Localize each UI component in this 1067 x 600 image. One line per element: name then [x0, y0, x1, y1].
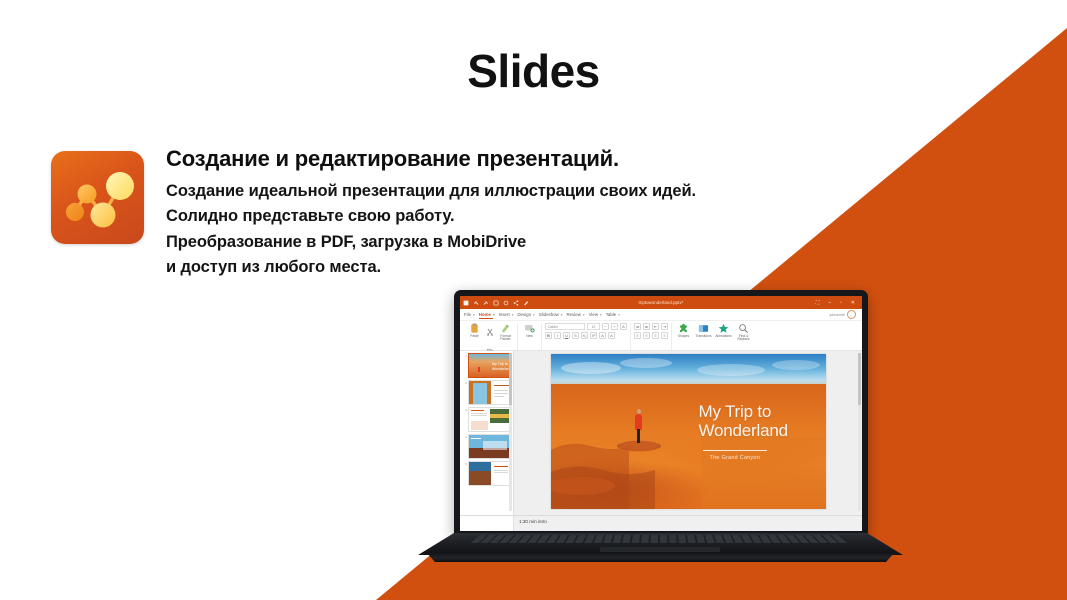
animations-star-icon — [718, 323, 729, 334]
thumbnail-number: 2 — [463, 380, 467, 405]
clipboard-icon — [469, 323, 480, 334]
menu-slideshow[interactable]: Slideshow▾ — [539, 312, 563, 317]
slide-title-text[interactable]: My Trip to Wonderland — [699, 402, 788, 440]
minimize-icon[interactable]: – — [828, 300, 831, 306]
notes-text[interactable]: 1:30 min intro — [514, 516, 547, 524]
person-head — [637, 409, 641, 414]
thumbnail-number: 1 — [463, 353, 467, 378]
feature-line-4: и доступ из любого места. — [166, 255, 786, 281]
title-underline — [703, 450, 767, 451]
thumbnail-preview: My Trip toWonderland — [468, 353, 510, 378]
align-justify-icon[interactable]: ≡ — [661, 332, 668, 339]
animations-label: Animations — [715, 335, 731, 338]
menu-review[interactable]: Review▾ — [566, 312, 584, 317]
clear-format-icon[interactable]: A — [620, 323, 627, 330]
menu-design[interactable]: Design▾ — [517, 312, 534, 317]
menu-file[interactable]: File▾ — [464, 312, 475, 317]
save-icon[interactable] — [463, 300, 469, 306]
thumbnail-preview — [468, 461, 510, 486]
transitions-label: Transitions — [695, 335, 711, 338]
app-titlebar: triptowonderland.pptx* ⛶ – ▫ ✕ — [460, 296, 862, 309]
font-increase-icon[interactable]: + — [611, 323, 618, 330]
shapes-button[interactable]: Shapes — [675, 323, 692, 338]
feature-line-2: Солидно представьте свою работу. — [166, 204, 786, 230]
thumbnail-preview — [468, 434, 510, 459]
menu-insert-label: Insert — [499, 312, 510, 317]
animations-button[interactable]: Animations — [715, 323, 732, 338]
avatar[interactable] — [847, 310, 856, 319]
new-slide-icon — [524, 323, 535, 334]
sync-icon[interactable] — [503, 300, 509, 306]
page-title: Slides — [0, 44, 1067, 98]
menu-table[interactable]: Table▾ — [606, 312, 620, 317]
transitions-icon — [698, 323, 709, 334]
bold-button[interactable]: B — [545, 332, 552, 339]
find-replace-button[interactable]: Find & Replace — [735, 323, 752, 342]
chevron-down-icon: ▾ — [561, 313, 563, 317]
underline-button[interactable]: U — [563, 332, 570, 339]
chevron-down-icon: ▾ — [473, 313, 475, 317]
menu-slideshow-label: Slideshow — [539, 312, 559, 317]
align-left-icon[interactable]: ≡ — [634, 332, 641, 339]
feature-headline: Создание и редактирование презентаций. — [166, 145, 786, 173]
menu-file-label: File — [464, 312, 471, 317]
find-replace-icon — [738, 323, 749, 334]
notes-pane[interactable]: 1:30 min intro — [460, 515, 862, 531]
slides-app-icon — [51, 151, 144, 244]
person-jacket — [635, 414, 642, 430]
format-painter-button[interactable]: Format Painter — [497, 323, 514, 342]
paste-label: Paste — [470, 335, 478, 338]
restore-icon[interactable]: ⛶ — [816, 300, 820, 306]
ribbon-group-slides: New — [518, 323, 542, 350]
feature-line-3: Преобразование в PDF, загрузка в MobiDri… — [166, 230, 786, 256]
quick-access-toolbar — [463, 300, 529, 306]
italic-button[interactable]: I — [554, 332, 561, 339]
laptop-keyboard — [471, 535, 849, 543]
font-color-button[interactable]: A — [608, 332, 615, 339]
scrollbar-thumb[interactable] — [509, 353, 512, 405]
notes-spacer — [460, 516, 514, 531]
font-row-top: Calibri 12 − + A — [545, 323, 627, 330]
thumbnail-scrollbar[interactable] — [509, 353, 512, 511]
redo-icon[interactable] — [483, 300, 489, 306]
menu-view[interactable]: View▾ — [589, 312, 602, 317]
thumbnail-slide-3[interactable]: 3 — [463, 407, 510, 432]
laptop-screen: triptowonderland.pptx* ⛶ – ▫ ✕ File▾ Hom… — [460, 296, 862, 531]
slide-thumbnail-panel[interactable]: 1 My Trip toWonderland 2 3 — [460, 351, 514, 515]
ribbon-group-paragraph: ≔ ≕ ⇤ ⇥ ≡ ≡ ≡ ≡ — [631, 323, 672, 350]
chevron-down-icon: ▾ — [493, 313, 495, 317]
align-right-icon[interactable]: ≡ — [652, 332, 659, 339]
user-account-area[interactable]: johnsmith — [830, 310, 858, 319]
thumbnail-slide-1[interactable]: 1 My Trip toWonderland — [463, 353, 510, 378]
format-painter-label: Format Painter — [497, 335, 514, 342]
chevron-down-icon: ▾ — [512, 313, 514, 317]
scrollbar-thumb[interactable] — [858, 353, 861, 405]
ribbon-group-clipboard: Paste — [463, 323, 518, 350]
shapes-label: Shapes — [678, 335, 689, 338]
laptop-mockup: triptowonderland.pptx* ⛶ – ▫ ✕ File▾ Hom… — [418, 290, 903, 580]
paragraph-row-top: ≔ ≕ ⇤ ⇥ — [634, 323, 668, 330]
ribbon-group-font: Calibri 12 − + A B I U S X — [542, 323, 631, 350]
window-controls: ⛶ – ▫ ✕ — [816, 300, 859, 306]
bullets-icon[interactable]: ≔ — [634, 323, 641, 330]
undo-icon[interactable] — [473, 300, 479, 306]
laptop-base-front — [424, 552, 897, 562]
slides-nodes-glyph — [51, 151, 144, 244]
thumbnail-number: 3 — [463, 407, 467, 432]
app-ribbon: Paste — [460, 321, 862, 351]
feature-text-block: Создание и редактирование презентаций. С… — [166, 145, 786, 281]
text-highlight-button[interactable]: A — [599, 332, 606, 339]
menu-design-label: Design — [517, 312, 531, 317]
indent-increase-icon[interactable]: ⇥ — [661, 323, 668, 330]
print-icon[interactable] — [493, 300, 499, 306]
chevron-down-icon: ▾ — [583, 313, 585, 317]
paragraph-controls: ≔ ≕ ⇤ ⇥ ≡ ≡ ≡ ≡ — [634, 323, 668, 339]
font-family-select[interactable]: Calibri — [545, 323, 585, 330]
thumbnail-preview — [468, 380, 510, 405]
thumbnail-number: 5 — [463, 461, 467, 486]
font-row-bottom: B I U S X₂ X² A A — [545, 332, 627, 339]
app-workspace: 1 My Trip toWonderland 2 3 — [460, 351, 862, 515]
user-name-label: johnsmith — [830, 313, 845, 317]
stage-scrollbar[interactable] — [858, 353, 861, 511]
chevron-down-icon: ▾ — [533, 313, 535, 317]
paste-button[interactable]: Paste — [466, 323, 483, 338]
svg-text:Wonderland: Wonderland — [492, 367, 510, 371]
thumbnail-slide-5[interactable]: 5 — [463, 461, 510, 486]
thumbnail-number: 4 — [463, 434, 467, 459]
maximize-icon[interactable]: ▫ — [840, 300, 842, 306]
indent-decrease-icon[interactable]: ⇤ — [652, 323, 659, 330]
menu-review-label: Review — [566, 312, 580, 317]
pen-icon[interactable] — [523, 300, 529, 306]
menu-view-label: View — [589, 312, 598, 317]
feature-line-1: Создание идеальной презентации для иллюс… — [166, 179, 786, 205]
thumbnail-preview — [468, 407, 510, 432]
transitions-button[interactable]: Transitions — [695, 323, 712, 338]
close-icon[interactable]: ✕ — [851, 300, 855, 306]
new-slide-button[interactable]: New — [521, 323, 538, 338]
superscript-button[interactable]: X² — [590, 332, 597, 339]
thumbnail-slide-4[interactable]: 4 — [463, 434, 510, 459]
ribbon-group-tools: Shapes Transitions Animati — [672, 323, 755, 350]
presentation-slide: Slides — [0, 0, 1067, 600]
menu-home[interactable]: Home▾ — [479, 312, 495, 317]
strikethrough-button[interactable]: S — [572, 332, 579, 339]
app-menubar: File▾ Home▾ Insert▾ Design▾ Slideshow▾ R… — [460, 309, 862, 321]
menu-table-label: Table — [606, 312, 617, 317]
menu-insert[interactable]: Insert▾ — [499, 312, 514, 317]
format-painter-icon — [500, 323, 511, 334]
numbering-icon[interactable]: ≕ — [643, 323, 650, 330]
slide-canvas[interactable]: My Trip to Wonderland The Grand Canyon — [551, 354, 826, 509]
shapes-icon — [678, 323, 689, 334]
slide-editing-stage[interactable]: My Trip to Wonderland The Grand Canyon — [514, 351, 862, 515]
menu-home-label: Home — [479, 312, 491, 317]
slide-subtitle-text[interactable]: The Grand Canyon — [710, 455, 761, 461]
align-center-icon[interactable]: ≡ — [643, 332, 650, 339]
chevron-down-icon: ▾ — [600, 313, 602, 317]
paragraph-row-bottom: ≡ ≡ ≡ ≡ — [634, 332, 668, 339]
person-legs — [637, 429, 640, 443]
svg-text:My Trip to: My Trip to — [492, 362, 508, 366]
font-decrease-icon[interactable]: − — [602, 323, 609, 330]
thumbnail-slide-2[interactable]: 2 — [463, 380, 510, 405]
chevron-down-icon: ▾ — [618, 313, 620, 317]
new-slide-label: New — [526, 335, 533, 338]
font-controls: Calibri 12 − + A B I U S X — [545, 323, 627, 339]
cut-icon[interactable] — [486, 323, 494, 341]
subscript-button[interactable]: X₂ — [581, 332, 588, 339]
find-replace-label: Find & Replace — [735, 335, 752, 342]
font-size-select[interactable]: 12 — [587, 323, 600, 330]
slide-title-line2: Wonderland — [699, 421, 788, 440]
slide-title-line1: My Trip to — [699, 402, 772, 421]
laptop-lid: triptowonderland.pptx* ⛶ – ▫ ✕ File▾ Hom… — [454, 290, 868, 538]
share-icon[interactable] — [513, 300, 519, 306]
